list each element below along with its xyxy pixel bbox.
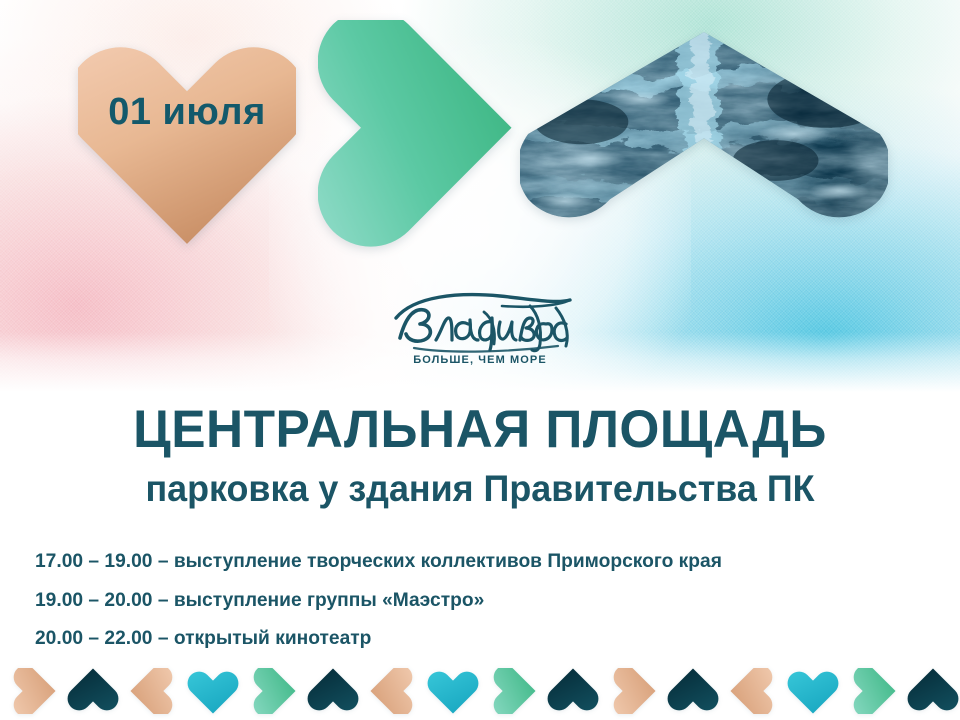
green-heart-icon <box>318 20 533 270</box>
vladivostok-logo: БОЛЬШЕ, ЧЕМ МОРЕ <box>380 288 580 380</box>
strip-heart-icon <box>544 668 602 714</box>
strip-heart-icon <box>424 668 482 714</box>
schedule-item: 20.00 – 22.00 – открытый кинотеатр <box>35 629 922 649</box>
strip-heart-icon <box>64 668 122 714</box>
schedule-list: 17.00 – 19.00 – выступление творческих к… <box>35 552 935 668</box>
event-poster: 01 июля <box>0 0 960 720</box>
strip-heart-icon <box>364 668 422 714</box>
strip-heart-icon <box>244 668 302 714</box>
strip-heart-icon <box>4 668 62 714</box>
strip-heart-icon <box>604 668 662 714</box>
schedule-item: 17.00 – 19.00 – выступление творческих к… <box>35 552 922 572</box>
strip-heart-icon <box>784 668 842 714</box>
strip-heart-icon <box>124 668 182 714</box>
strip-heart-icon <box>844 668 902 714</box>
vladivostok-wordmark-script <box>380 288 580 354</box>
strip-heart-icon <box>724 668 782 714</box>
strip-heart-icon <box>664 668 722 714</box>
schedule-item: 19.00 – 20.00 – выступление группы «Маэс… <box>35 591 922 611</box>
date-badge-label: 01 июля <box>78 93 296 131</box>
strip-heart-icon <box>904 668 960 714</box>
peach-heart-icon <box>78 30 296 244</box>
page-title: ЦЕНТРАЛЬНАЯ ПЛОЩАДЬ <box>14 402 945 458</box>
logo-tagline: БОЛЬШЕ, ЧЕМ МОРЕ <box>380 355 580 366</box>
decorative-heart-strip <box>0 662 960 720</box>
strip-heart-icon <box>484 668 542 714</box>
strip-heart-icon <box>184 668 242 714</box>
strip-heart-icon <box>304 668 362 714</box>
ocean-heart-icon <box>520 28 888 240</box>
page-subtitle: парковка у здания Правительства ПК <box>14 470 945 509</box>
